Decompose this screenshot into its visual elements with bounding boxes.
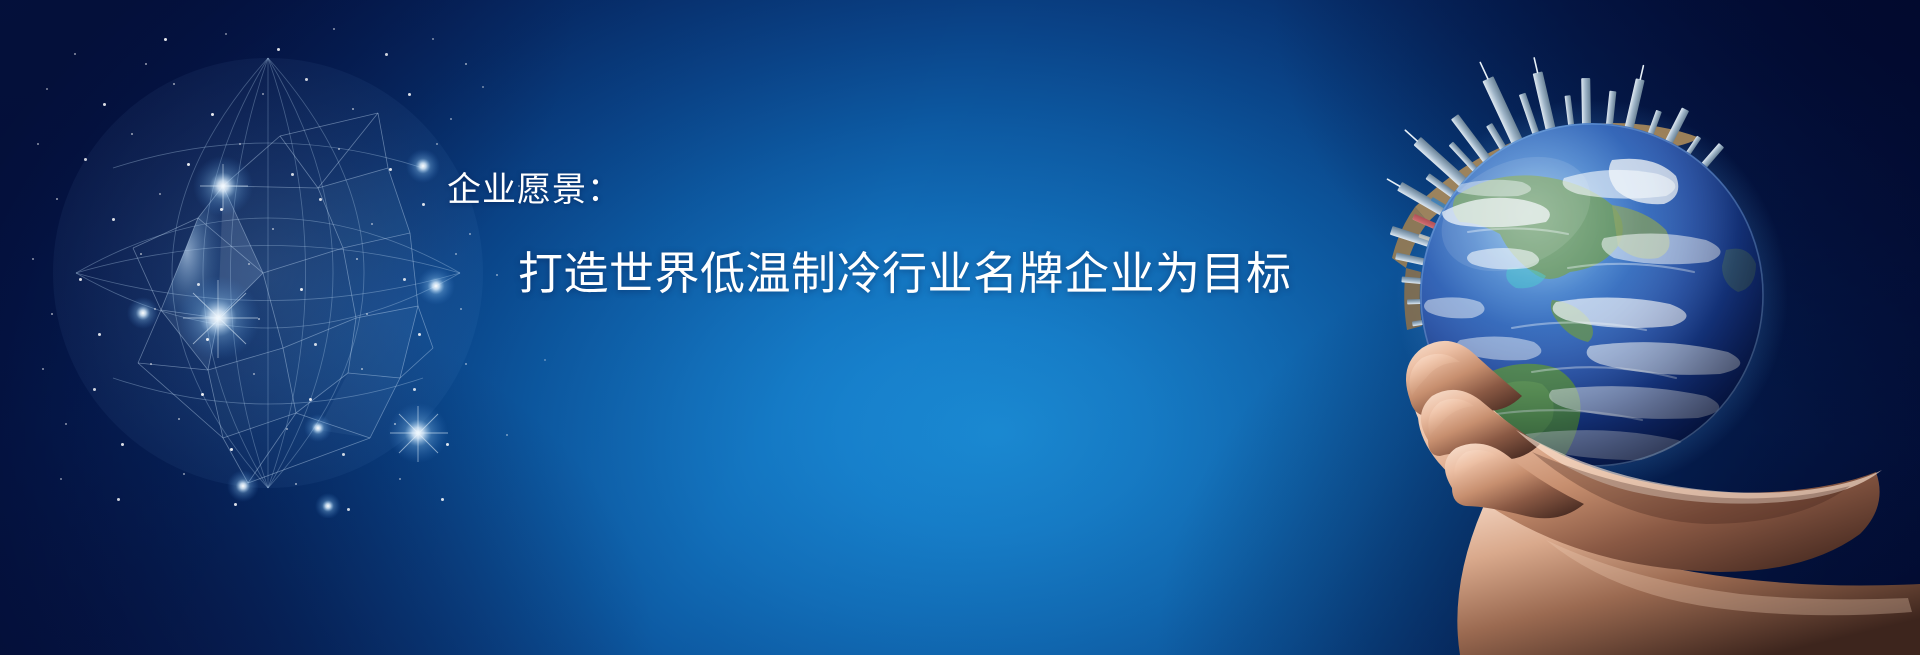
copy-block: 企业愿景： 打造世界低温制冷行业名牌企业为目标 <box>0 0 1920 655</box>
vision-statement: 打造世界低温制冷行业名牌企业为目标 <box>518 245 1292 303</box>
vision-banner: 企业愿景： 打造世界低温制冷行业名牌企业为目标 <box>0 0 1920 655</box>
vision-label: 企业愿景： <box>447 168 622 212</box>
